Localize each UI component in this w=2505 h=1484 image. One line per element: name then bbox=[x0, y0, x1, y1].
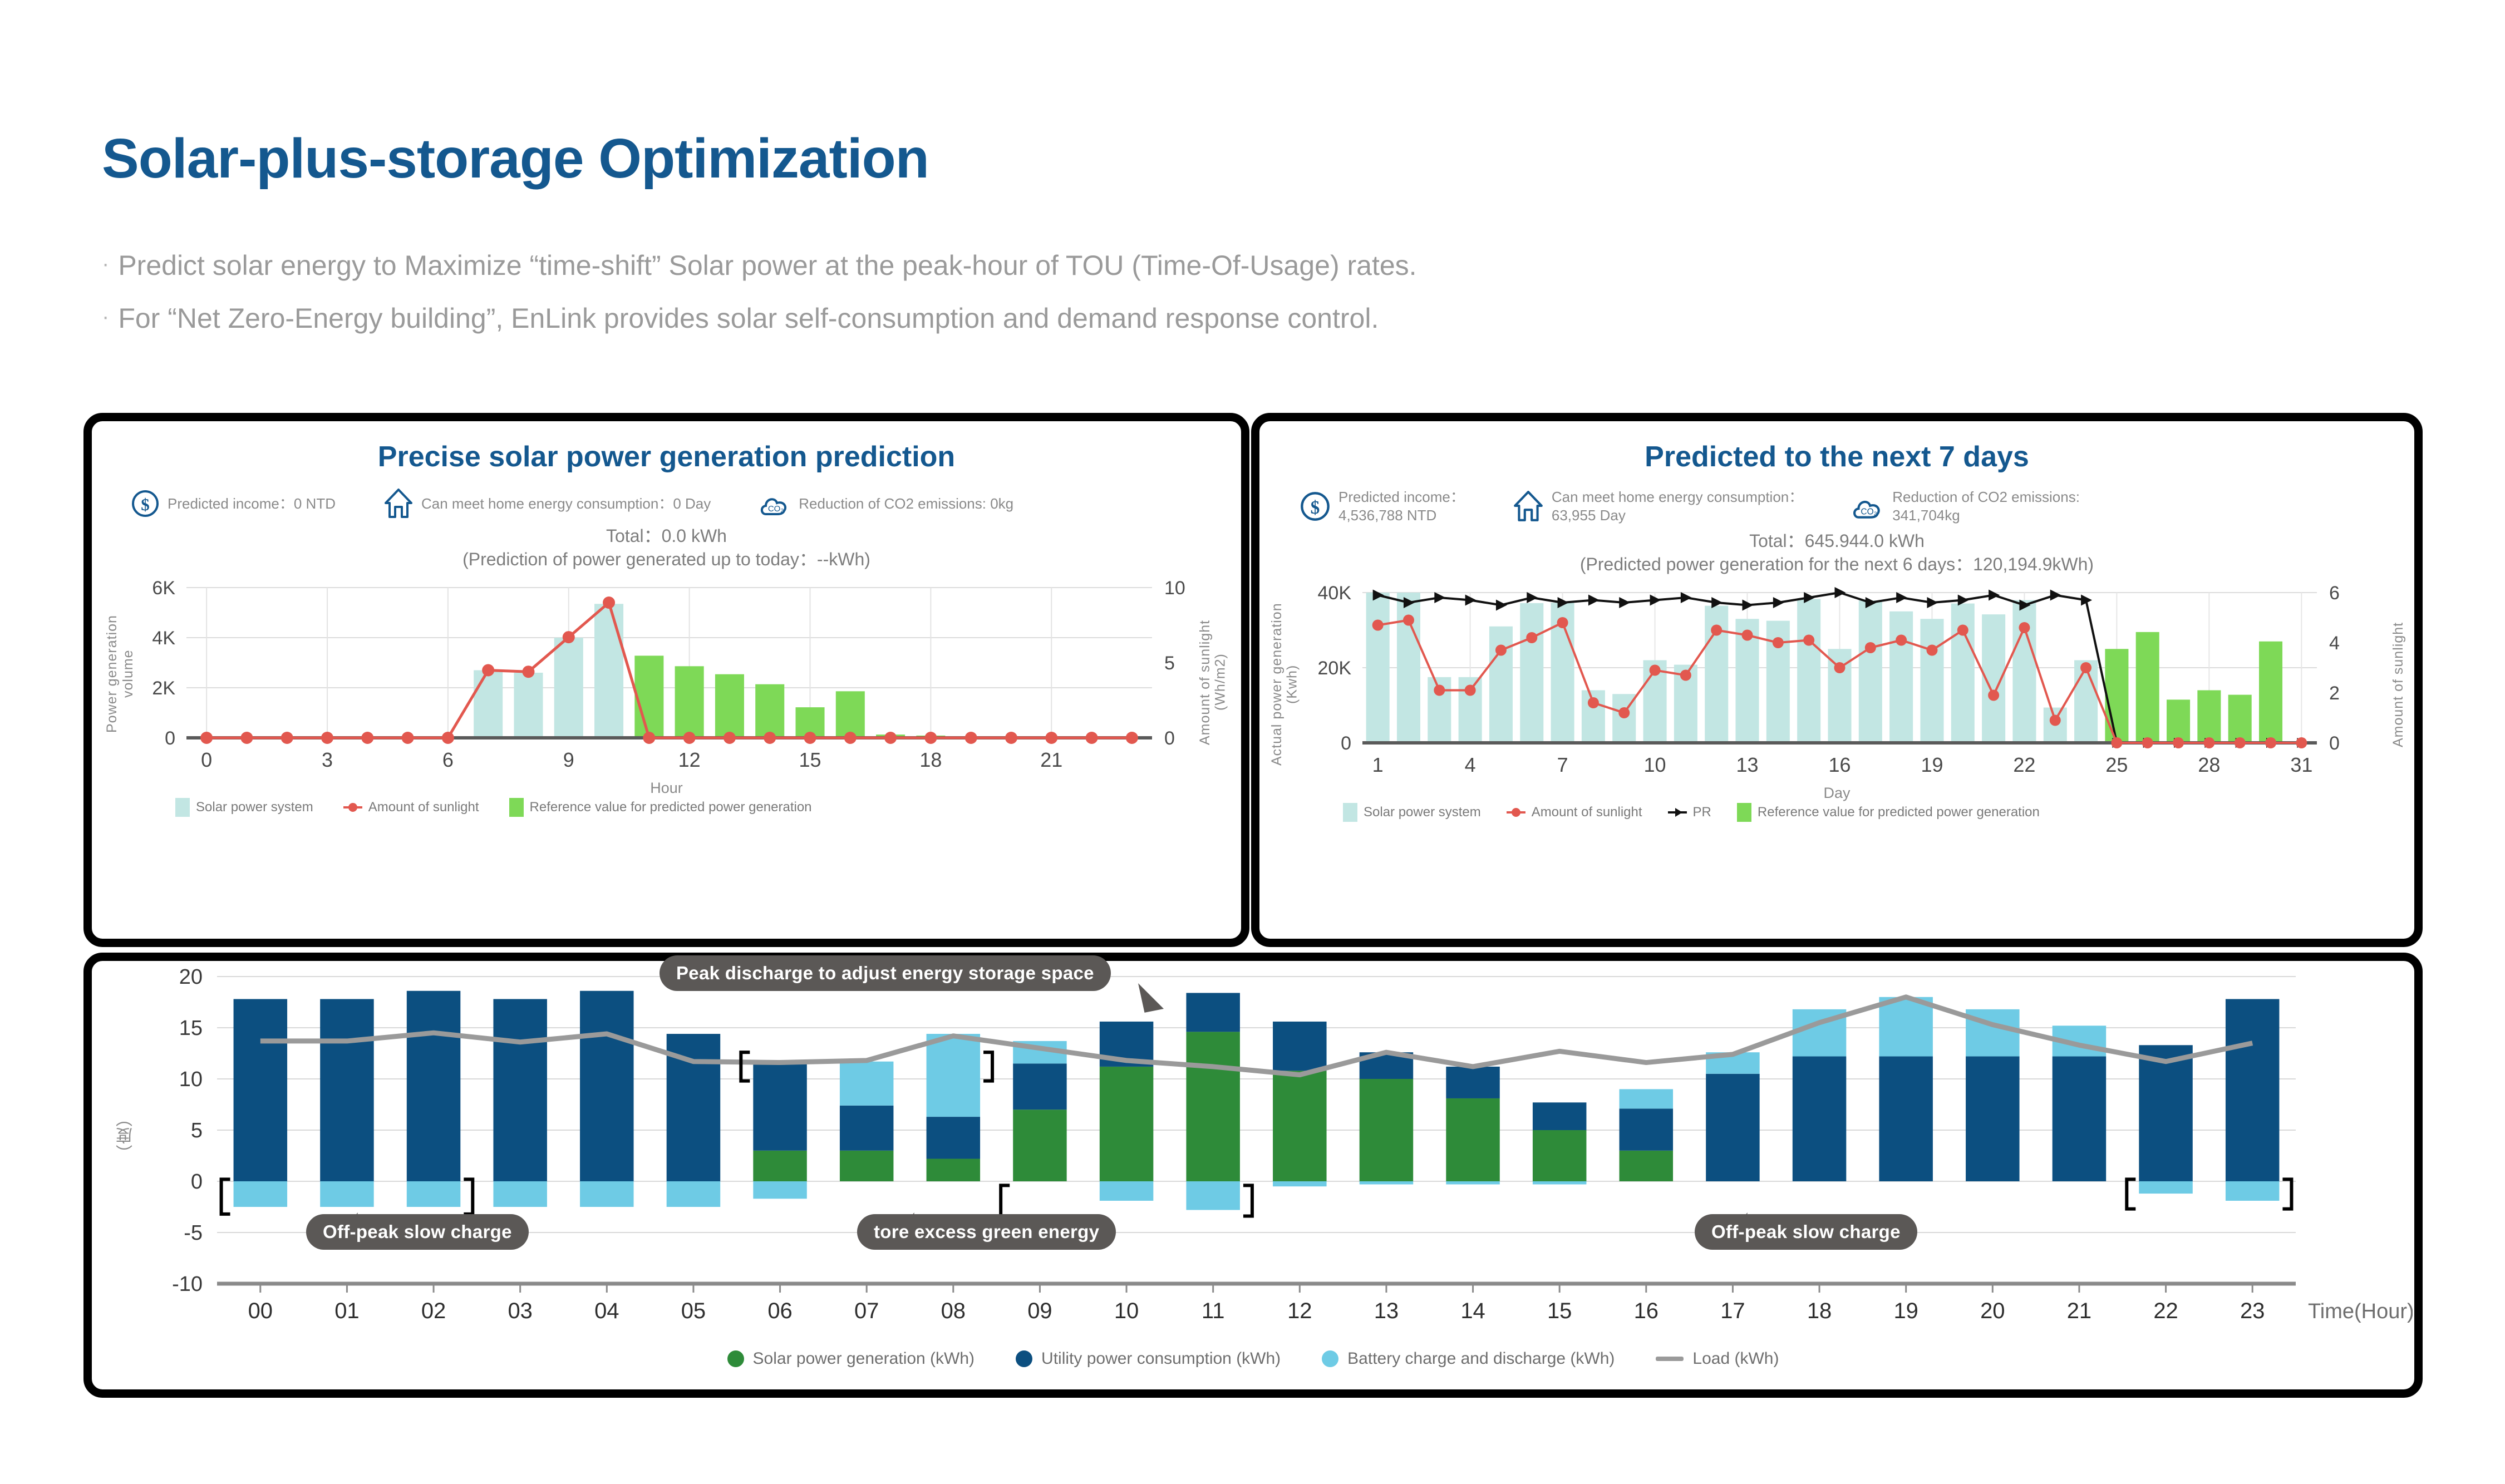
home-icon bbox=[1513, 490, 1544, 522]
right-chart-subtotal: (Predicted power generation for the next… bbox=[1259, 553, 2414, 576]
svg-text:0: 0 bbox=[201, 748, 212, 771]
svg-text:03: 03 bbox=[508, 1299, 533, 1323]
svg-text:20K: 20K bbox=[1318, 658, 1352, 679]
callout-peak-discharge: Peak discharge to adjust energy storage … bbox=[660, 955, 1111, 991]
svg-text:0: 0 bbox=[2329, 733, 2340, 754]
legend-item: PR bbox=[1668, 805, 1711, 820]
svg-text:6: 6 bbox=[442, 748, 454, 771]
bottom-chart-legend: Solar power generation (kWh)Utility powe… bbox=[92, 1349, 2414, 1368]
svg-text:3: 3 bbox=[322, 748, 333, 771]
legend-color-swatch bbox=[175, 798, 190, 817]
right-chart: Actual power generation (Kwh) Amount of … bbox=[1259, 576, 2414, 798]
svg-text:09: 09 bbox=[1027, 1299, 1052, 1323]
svg-text:-5: -5 bbox=[184, 1221, 203, 1245]
legend-item: Amount of sunlight bbox=[343, 800, 479, 815]
legend-dot-swatch bbox=[1016, 1350, 1032, 1367]
legend-marker-icon bbox=[343, 800, 362, 815]
svg-text:18: 18 bbox=[1807, 1299, 1832, 1323]
stat-predicted-income: $ Predicted income： 4,536,788 NTD bbox=[1300, 488, 1465, 524]
svg-text:4K: 4K bbox=[152, 628, 175, 649]
legend-item: Load (kWh) bbox=[1656, 1349, 1779, 1368]
bottom-chart-svg: -10-505101520000102030405060708091011121… bbox=[92, 961, 2413, 1345]
svg-text:21: 21 bbox=[1040, 748, 1062, 771]
bullet-text: Predict solar energy to Maximize “time-s… bbox=[118, 245, 1416, 287]
svg-text:0: 0 bbox=[1341, 733, 1351, 754]
dollar-coin-icon: $ bbox=[1300, 491, 1331, 522]
bullet-item: · For “Net Zero-Energy building”, EnLink… bbox=[102, 298, 1417, 339]
right-stat-row: $ Predicted income： 4,536,788 NTD Can me… bbox=[1259, 488, 2414, 524]
stat-label-line2: 4,536,788 NTD bbox=[1338, 507, 1436, 524]
callout-offpeak-right: Off-peak slow charge bbox=[1695, 1214, 1917, 1250]
svg-text:$: $ bbox=[141, 495, 150, 514]
svg-text:-10: -10 bbox=[172, 1273, 203, 1296]
svg-text:22: 22 bbox=[2153, 1299, 2178, 1323]
co2-cloud-icon: CO₂ bbox=[759, 490, 791, 517]
svg-text:4: 4 bbox=[1465, 753, 1476, 776]
legend-item: Reference value for predicted power gene… bbox=[509, 798, 812, 817]
legend-item: Reference value for predicted power gene… bbox=[1737, 803, 2040, 822]
legend-label: Amount of sunlight bbox=[1532, 805, 1642, 820]
svg-text:6: 6 bbox=[2329, 583, 2340, 604]
legend-item: Solar power system bbox=[175, 798, 313, 817]
legend-line-swatch bbox=[1656, 1357, 1684, 1361]
legend-label: Battery charge and discharge (kWh) bbox=[1347, 1349, 1615, 1368]
stat-co2-reduction: CO₂ Reduction of CO2 emissions: 341,704k… bbox=[1851, 488, 2080, 524]
svg-text:11: 11 bbox=[1202, 1299, 1225, 1323]
legend-label: Amount of sunlight bbox=[368, 800, 479, 815]
svg-text:21: 21 bbox=[2067, 1299, 2092, 1323]
svg-text:4: 4 bbox=[2329, 633, 2340, 654]
svg-text:00: 00 bbox=[248, 1299, 273, 1323]
svg-text:13: 13 bbox=[1736, 753, 1759, 776]
stat-predicted-income: $ Predicted income：0 NTD bbox=[131, 488, 336, 519]
svg-text:2: 2 bbox=[2329, 683, 2340, 704]
legend-label: Utility power consumption (kWh) bbox=[1041, 1349, 1281, 1368]
stat-label-line1: Can meet home energy consumption： bbox=[1552, 489, 1803, 505]
right-chart-heading: Total：645.944.0 kWh (Predicted power gen… bbox=[1259, 530, 2414, 576]
bullet-list: · Predict solar energy to Maximize “time… bbox=[102, 245, 1417, 351]
svg-text:15: 15 bbox=[1547, 1299, 1572, 1323]
svg-text:14: 14 bbox=[1460, 1299, 1485, 1323]
svg-text:6K: 6K bbox=[152, 578, 175, 599]
right-x-axis-label: Day bbox=[1259, 785, 2414, 802]
svg-text:CO₂: CO₂ bbox=[1861, 507, 1877, 516]
legend-dot-swatch bbox=[1322, 1350, 1338, 1367]
stat-label-line2: 341,704kg bbox=[1892, 507, 1960, 524]
right-chart-svg: 020K40K02461471013161922252831 bbox=[1259, 576, 2414, 798]
stat-label: Can meet home energy consumption：0 Day bbox=[421, 495, 711, 513]
svg-text:28: 28 bbox=[2198, 753, 2220, 776]
svg-text:5: 5 bbox=[191, 1119, 203, 1142]
right-y2-axis-label: Amount of sunlight bbox=[2390, 609, 2406, 760]
stat-label: Can meet home energy consumption： 63,955… bbox=[1552, 488, 1803, 524]
svg-text:5: 5 bbox=[1164, 653, 1175, 674]
svg-text:23: 23 bbox=[2240, 1299, 2265, 1323]
bottom-y-axis-label: （度） bbox=[114, 1111, 139, 1161]
svg-text:02: 02 bbox=[421, 1299, 446, 1323]
svg-text:0: 0 bbox=[1164, 728, 1175, 749]
svg-text:12: 12 bbox=[1287, 1299, 1312, 1323]
svg-text:15: 15 bbox=[799, 748, 821, 771]
svg-text:19: 19 bbox=[1921, 753, 1943, 776]
bullet-marker-icon: · bbox=[102, 245, 109, 283]
svg-text:20: 20 bbox=[1980, 1299, 2005, 1323]
page-title: Solar-plus-storage Optimization bbox=[102, 127, 929, 191]
svg-text:20: 20 bbox=[179, 965, 203, 989]
stat-label: Predicted income：0 NTD bbox=[168, 495, 336, 513]
svg-text:CO₂: CO₂ bbox=[768, 504, 784, 514]
svg-text:Time(Hour): Time(Hour) bbox=[2308, 1300, 2413, 1323]
svg-text:12: 12 bbox=[678, 748, 701, 771]
svg-text:22: 22 bbox=[2013, 753, 2035, 776]
stat-home-consumption: Can meet home energy consumption：0 Day bbox=[383, 488, 711, 519]
svg-text:19: 19 bbox=[1893, 1299, 1918, 1323]
legend-item: Utility power consumption (kWh) bbox=[1016, 1349, 1281, 1368]
svg-text:0: 0 bbox=[191, 1170, 203, 1194]
dollar-coin-icon: $ bbox=[131, 489, 160, 518]
stat-home-consumption: Can meet home energy consumption： 63,955… bbox=[1513, 488, 1803, 524]
left-chart-heading: Total：0.0 kWh (Prediction of power gener… bbox=[92, 525, 1241, 571]
stat-label: Reduction of CO2 emissions: 0kg bbox=[799, 495, 1013, 513]
slide-root: Solar-plus-storage Optimization · Predic… bbox=[0, 0, 2505, 1484]
legend-label: Solar power generation (kWh) bbox=[753, 1349, 975, 1368]
stat-label: Predicted income： 4,536,788 NTD bbox=[1338, 488, 1465, 524]
panel-precise-solar-prediction: Precise solar power generation predictio… bbox=[83, 413, 1249, 947]
svg-text:17: 17 bbox=[1720, 1299, 1745, 1323]
stat-label: Reduction of CO2 emissions: 341,704kg bbox=[1892, 488, 2080, 524]
svg-text:04: 04 bbox=[594, 1299, 619, 1323]
legend-item: Amount of sunlight bbox=[1507, 805, 1642, 820]
svg-text:18: 18 bbox=[919, 748, 942, 771]
legend-color-swatch bbox=[1737, 803, 1751, 822]
svg-text:2K: 2K bbox=[152, 678, 175, 699]
svg-text:08: 08 bbox=[941, 1299, 966, 1323]
legend-color-swatch bbox=[509, 798, 524, 817]
stat-label-line2: 63,955 Day bbox=[1552, 507, 1626, 524]
callout-offpeak-left: Off-peak slow charge bbox=[306, 1214, 529, 1250]
svg-text:25: 25 bbox=[2105, 753, 2128, 776]
svg-text:01: 01 bbox=[334, 1299, 360, 1323]
right-panel-title: Predicted to the next 7 days bbox=[1259, 440, 2414, 474]
svg-text:7: 7 bbox=[1557, 753, 1568, 776]
left-y2-axis-label: Amount of sunlight (Wh/m2) bbox=[1198, 604, 1234, 760]
left-chart-subtotal: (Prediction of power generated up to tod… bbox=[92, 548, 1241, 571]
panel-next-7-days: Predicted to the next 7 days $ Predicted… bbox=[1251, 413, 2423, 947]
legend-item: Solar power system bbox=[1343, 803, 1481, 822]
svg-text:31: 31 bbox=[2290, 753, 2312, 776]
bullet-marker-icon: · bbox=[102, 298, 109, 336]
svg-text:16: 16 bbox=[1634, 1299, 1659, 1323]
legend-label: PR bbox=[1693, 805, 1711, 820]
svg-text:16: 16 bbox=[1828, 753, 1851, 776]
legend-label: Reference value for predicted power gene… bbox=[530, 800, 812, 815]
co2-cloud-icon: CO₂ bbox=[1851, 492, 1884, 521]
svg-text:10: 10 bbox=[179, 1068, 203, 1091]
left-y-axis-label: Power generation volume bbox=[104, 604, 136, 743]
home-icon bbox=[383, 488, 414, 519]
legend-color-swatch bbox=[1343, 803, 1357, 822]
left-chart-legend: Solar power systemAmount of sunlightRefe… bbox=[92, 798, 1241, 817]
legend-label: Solar power system bbox=[196, 800, 313, 815]
panel-energy-balance: （度） -10-50510152000010203040506070809101… bbox=[83, 953, 2423, 1398]
legend-label: Reference value for predicted power gene… bbox=[1758, 805, 2040, 820]
svg-text:07: 07 bbox=[854, 1299, 879, 1323]
svg-text:1: 1 bbox=[1372, 753, 1384, 776]
right-chart-total: Total：645.944.0 kWh bbox=[1259, 530, 2414, 553]
bullet-text: For “Net Zero-Energy building”, EnLink p… bbox=[118, 298, 1379, 339]
stat-label-line1: Predicted income： bbox=[1338, 489, 1465, 505]
svg-text:15: 15 bbox=[179, 1017, 203, 1040]
stat-label-line1: Reduction of CO2 emissions: bbox=[1892, 489, 2080, 505]
left-chart: Power generation volume Amount of sunlig… bbox=[92, 571, 1241, 793]
bullet-item: · Predict solar energy to Maximize “time… bbox=[102, 245, 1417, 287]
legend-marker-icon bbox=[1668, 805, 1687, 820]
legend-label: Load (kWh) bbox=[1692, 1349, 1779, 1368]
svg-text:9: 9 bbox=[563, 748, 574, 771]
bottom-chart: （度） -10-50510152000010203040506070809101… bbox=[92, 961, 2414, 1345]
svg-text:10: 10 bbox=[1164, 578, 1185, 599]
svg-text:06: 06 bbox=[767, 1299, 793, 1323]
svg-text:0: 0 bbox=[165, 728, 175, 749]
legend-marker-icon bbox=[1507, 805, 1525, 820]
svg-text:13: 13 bbox=[1374, 1299, 1399, 1323]
left-panel-title: Precise solar power generation predictio… bbox=[92, 440, 1241, 474]
svg-text:05: 05 bbox=[681, 1299, 706, 1323]
legend-item: Solar power generation (kWh) bbox=[727, 1349, 975, 1368]
left-chart-svg: 02K4K6K0510036912151821 bbox=[92, 571, 1241, 793]
svg-text:$: $ bbox=[1311, 497, 1320, 517]
left-stat-row: $ Predicted income：0 NTD Can meet home e… bbox=[92, 488, 1241, 519]
stat-co2-reduction: CO₂ Reduction of CO2 emissions: 0kg bbox=[759, 488, 1013, 519]
svg-text:40K: 40K bbox=[1318, 583, 1352, 604]
legend-label: Solar power system bbox=[1364, 805, 1481, 820]
legend-item: Battery charge and discharge (kWh) bbox=[1322, 1349, 1615, 1368]
left-chart-total: Total：0.0 kWh bbox=[92, 525, 1241, 548]
right-y-axis-label: Actual power generation (Kwh) bbox=[1269, 601, 1305, 768]
left-x-axis-label: Hour bbox=[92, 780, 1241, 797]
svg-text:10: 10 bbox=[1644, 753, 1666, 776]
legend-dot-swatch bbox=[727, 1350, 744, 1367]
right-chart-legend: Solar power systemAmount of sunlightPRRe… bbox=[1259, 803, 2414, 822]
svg-text:10: 10 bbox=[1114, 1299, 1139, 1323]
callout-store-green-energy: tore excess green energy bbox=[857, 1214, 1116, 1250]
